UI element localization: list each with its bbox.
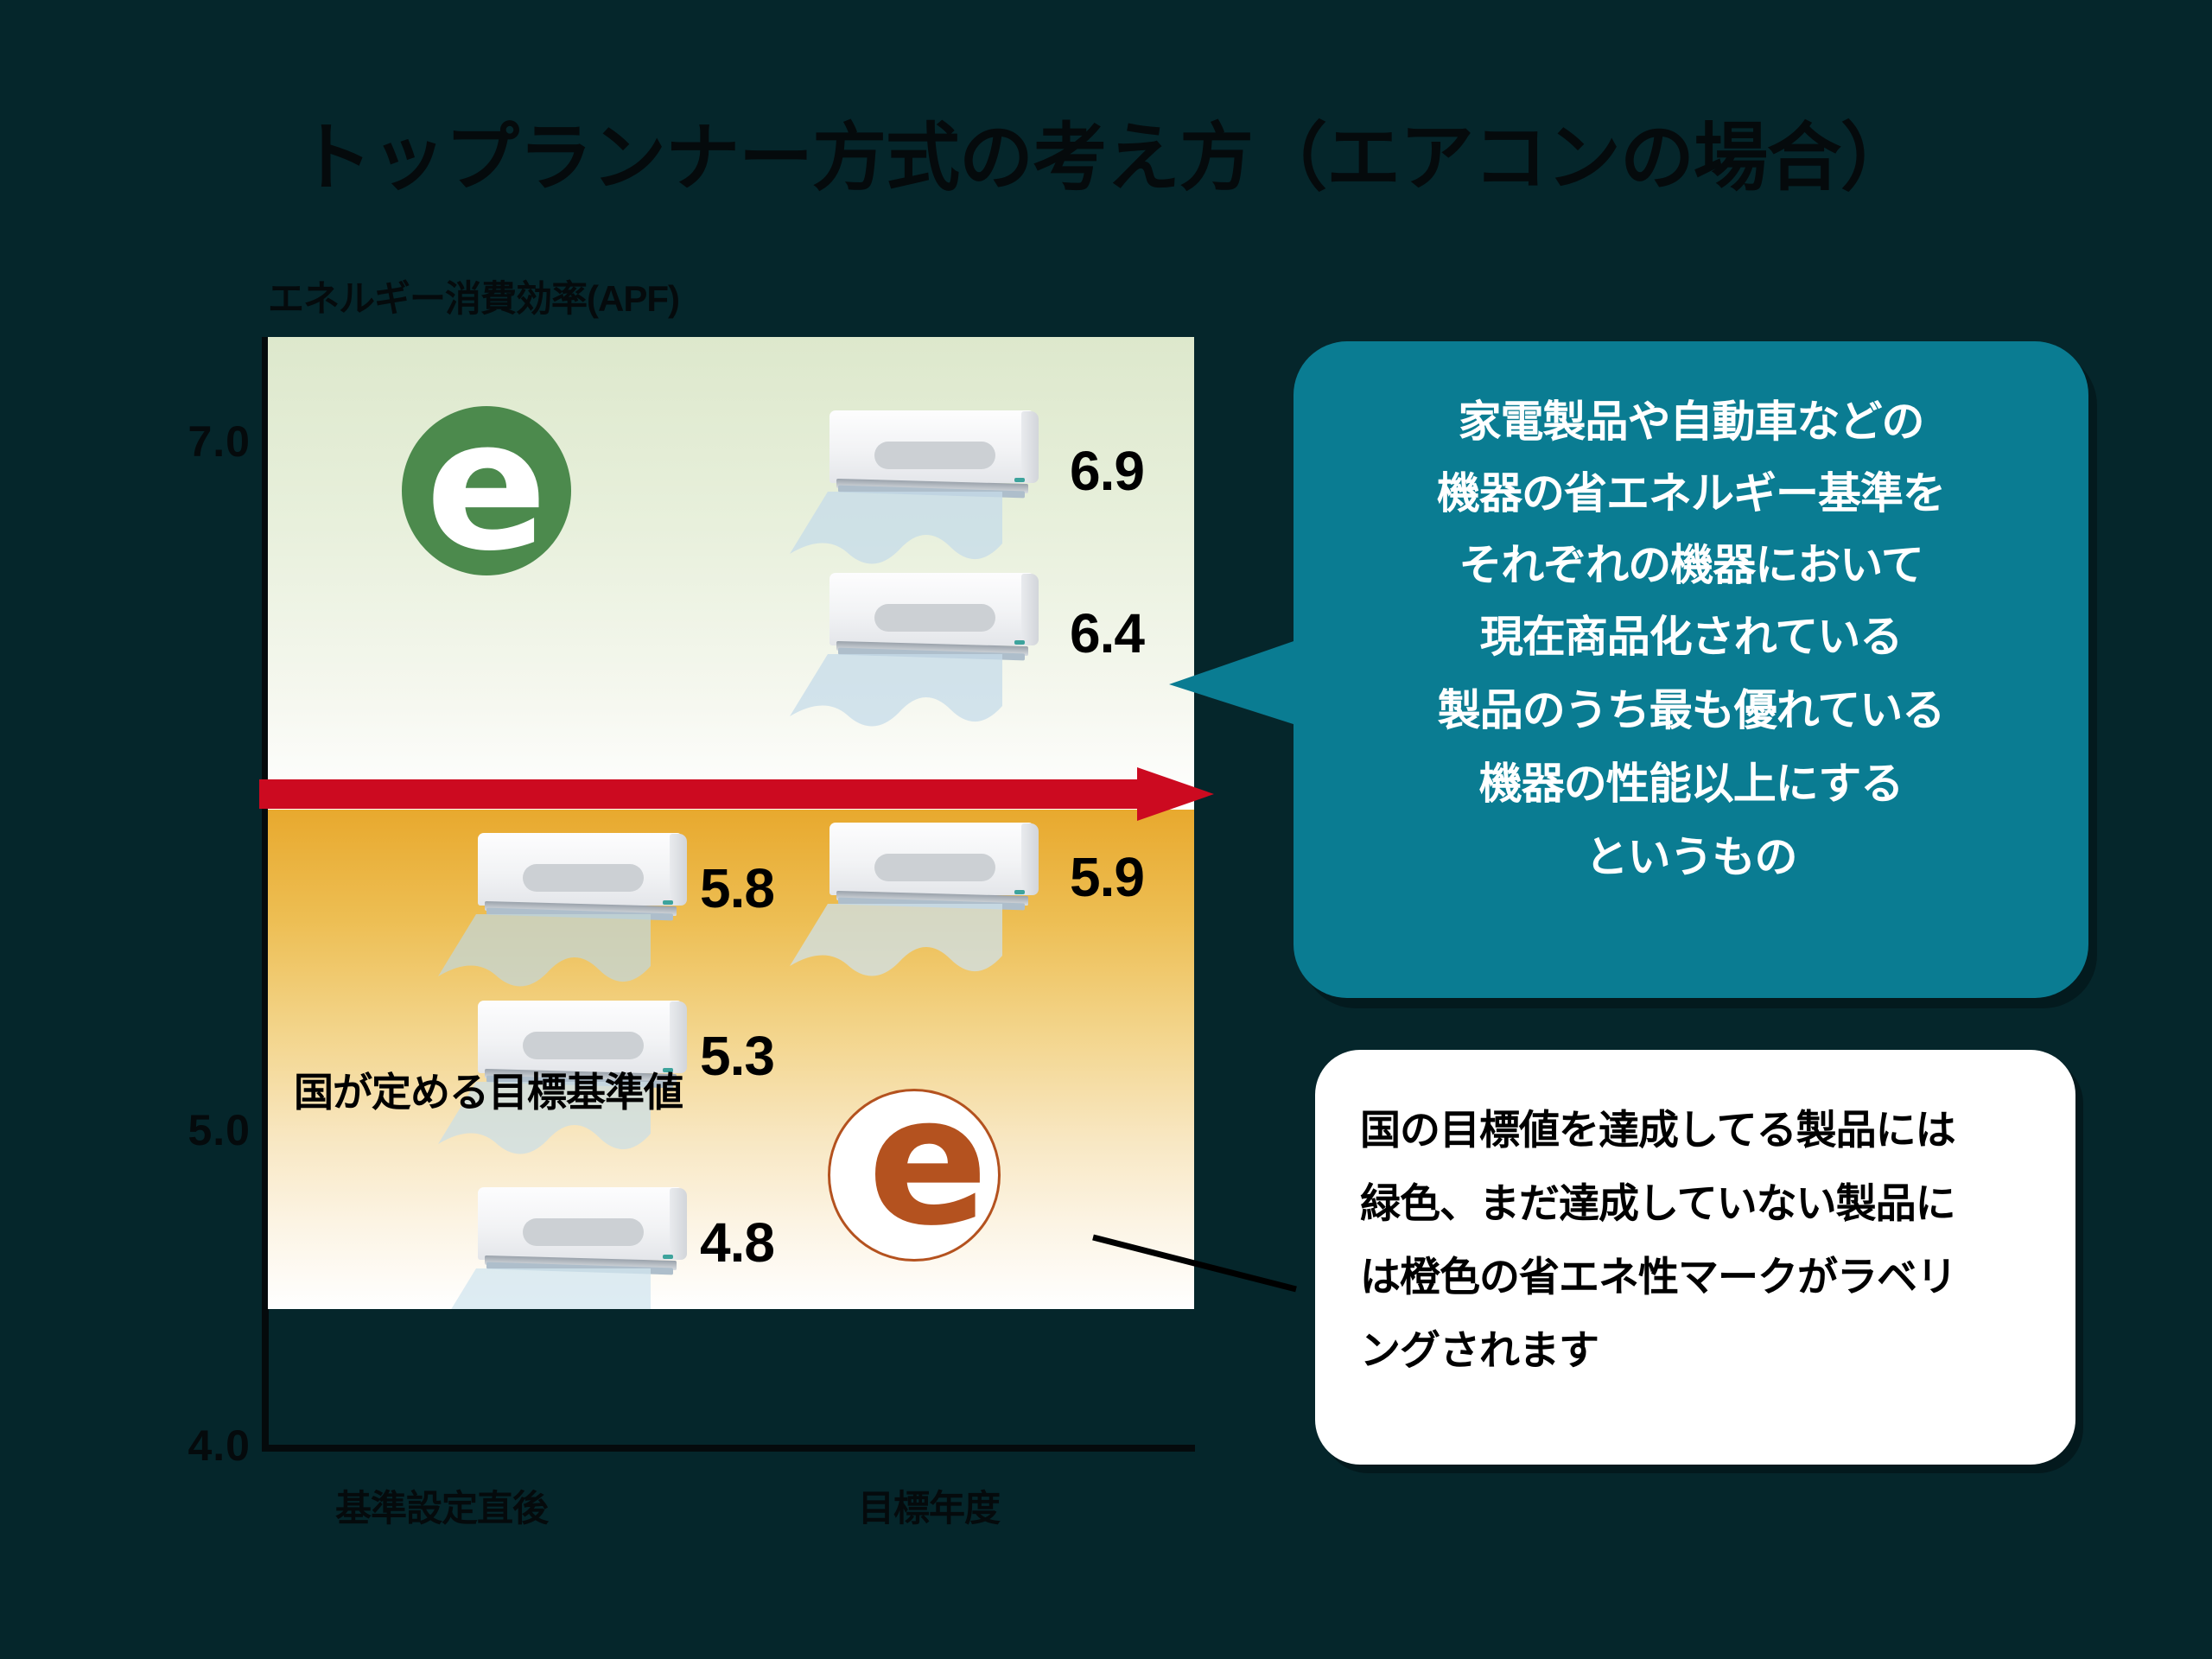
value-label-5-9: 5.9 xyxy=(1070,845,1144,909)
ac-airflow-icon xyxy=(790,652,1002,735)
callout-white: 国の目標値を達成してる製品には 緑色、まだ達成していない製品に は橙色の省エネ性… xyxy=(1315,1050,2075,1465)
callout-teal: 家電製品や自動車などの 機器の省エネルギー基準を それぞれの機器において 現在商… xyxy=(1294,341,2088,998)
e-mark-green-icon: e xyxy=(402,406,571,575)
callout-white-line-3: は橙色の省エネ性マークがラベリ xyxy=(1360,1240,2043,1313)
value-label-4-8: 4.8 xyxy=(700,1211,774,1274)
ac-airflow-icon xyxy=(438,1267,651,1309)
x-axis-line xyxy=(262,1445,1195,1452)
value-label-5-3: 5.3 xyxy=(700,1024,774,1088)
callout-teal-line-2: 機器の省エネルギー基準を xyxy=(1294,458,2088,530)
callout-teal-line-3: それぞれの機器において xyxy=(1294,530,2088,601)
e-mark-orange-glyph: e xyxy=(846,1071,1010,1252)
callout-teal-text: 家電製品や自動車などの 機器の省エネルギー基準を それぞれの機器において 現在商… xyxy=(1294,386,2088,893)
target-threshold-label: 国が定める目標基準値 xyxy=(294,1061,683,1118)
x-tick-label-baseline: 基準設定直後 xyxy=(335,1479,548,1532)
callout-teal-line-1: 家電製品や自動車などの xyxy=(1294,386,2088,458)
callout-white-text: 国の目標値を達成してる製品には 緑色、まだ達成していない製品に は橙色の省エネ性… xyxy=(1360,1093,2043,1387)
y-tick-label-7: 7.0 xyxy=(86,416,251,467)
chart-plot-area: e 6.9 6.4 国が定める目標基準値 5.8 5.9 xyxy=(268,337,1194,1309)
callout-white-line-2: 緑色、まだ達成していない製品に xyxy=(1360,1166,2043,1240)
target-threshold-arrow-icon xyxy=(259,767,1214,821)
ac-airflow-icon xyxy=(438,912,651,995)
ac-airflow-icon xyxy=(790,902,1002,985)
callout-teal-line-5: 製品のうち最も優れている xyxy=(1294,675,2088,748)
value-label-5-8: 5.8 xyxy=(700,856,774,920)
ac-unit-4-8 xyxy=(478,1187,696,1309)
y-tick-label-5: 5.0 xyxy=(86,1105,251,1155)
e-mark-orange-icon: e xyxy=(828,1089,1001,1262)
y-tick-label-4: 4.0 xyxy=(86,1421,251,1471)
page-title: トップランナー方式の考え方（エアコンの場合） xyxy=(0,97,2212,205)
value-label-6-4: 6.4 xyxy=(1070,601,1144,665)
value-label-6-9: 6.9 xyxy=(1070,439,1144,503)
ac-unit-5-9 xyxy=(829,823,1047,952)
ac-unit-6-4 xyxy=(829,573,1047,702)
callout-teal-line-7: というもの xyxy=(1294,822,2088,893)
callout-teal-line-4: 現在商品化されている xyxy=(1294,601,2088,675)
y-axis-title: エネルギー消費効率(APF) xyxy=(268,270,679,322)
x-tick-label-target-year: 目標年度 xyxy=(858,1479,1000,1532)
ac-unit-5-8 xyxy=(478,833,696,963)
e-mark-green-glyph: e xyxy=(402,396,571,577)
ac-unit-6-9 xyxy=(829,410,1047,540)
callout-white-leader-line xyxy=(1020,1192,1365,1331)
callout-teal-tail-icon xyxy=(1169,639,1299,726)
callout-white-line-1: 国の目標値を達成してる製品には xyxy=(1360,1093,2043,1166)
ac-airflow-icon xyxy=(790,490,1002,573)
callout-white-line-4: ングされます xyxy=(1360,1313,2043,1387)
callout-teal-line-6: 機器の性能以上にする xyxy=(1294,748,2088,822)
